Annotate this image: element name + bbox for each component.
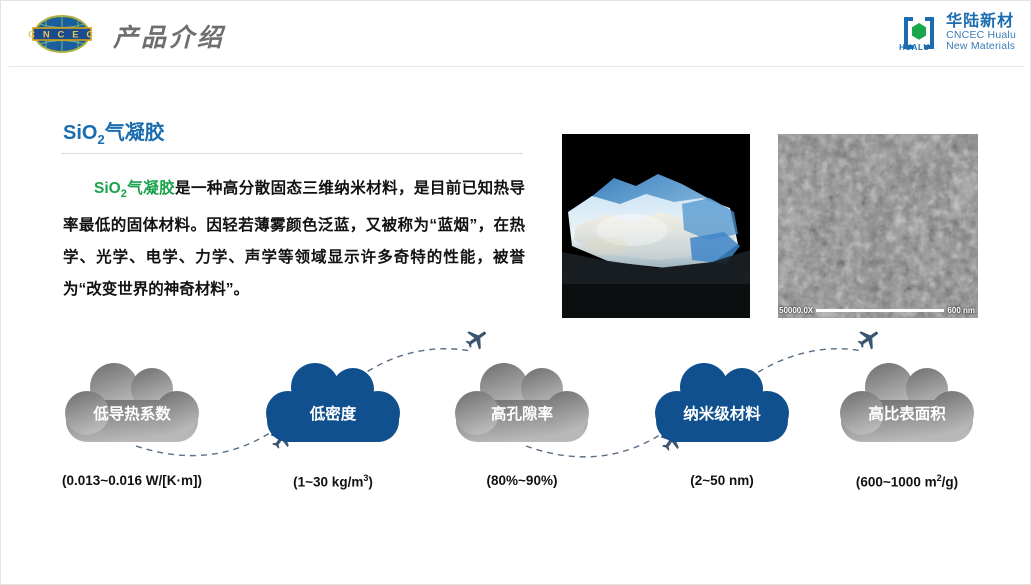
paragraph-highlight-rest: 气凝胶 <box>127 180 175 197</box>
cloud-label: 低导热系数 <box>58 402 206 424</box>
section-title: SiO2气凝胶 <box>63 116 165 147</box>
svg-text:C N C E C: C N C E C <box>28 30 96 41</box>
paragraph-highlight: SiO2气凝胶 <box>94 180 175 197</box>
cloud-item[interactable]: 高比表面积 <box>833 356 981 452</box>
cloud-label: 纳米级材料 <box>648 402 796 424</box>
hualu-mark-icon: HUALU <box>899 13 939 53</box>
cloud-caption-text: (80%~90%) <box>487 473 558 488</box>
paragraph-body: 是一种高分散固态三维纳米材料，是目前已知热导率最低的固体材料。因轻若薄雾颜色泛蓝… <box>63 180 525 298</box>
cloud-caption: (80%~90%) <box>407 473 637 488</box>
airplane-icon <box>856 326 882 352</box>
cloud-caption-text: (2~50 nm) <box>690 473 753 488</box>
cloud-item[interactable]: 低密度 <box>259 356 407 452</box>
cloud-caption-text: (0.013~0.016 W/[K·m]) <box>62 473 202 488</box>
page-title: 产品介绍 <box>113 18 225 54</box>
cloud-caption-text: (600~1000 m <box>856 475 937 490</box>
sem-photo: 50000.0X 600 nm <box>778 134 978 318</box>
paragraph-highlight-formula: SiO <box>94 180 121 197</box>
cloud-item[interactable]: 纳米级材料 <box>648 356 796 452</box>
hualu-name-cn: 华陆新材 <box>946 14 1016 31</box>
cloud-caption-tail: ) <box>368 475 373 490</box>
section-title-subscript: 2 <box>97 132 104 147</box>
hualu-tagline: HUALU <box>899 43 930 52</box>
section-title-divider <box>61 153 523 154</box>
header-divider <box>9 66 1024 67</box>
cloud-item[interactable]: 低导热系数 <box>58 356 206 452</box>
cloud-item[interactable]: 高孔隙率 <box>448 356 596 452</box>
cloud-caption: (0.013~0.016 W/[K·m]) <box>17 473 247 488</box>
hualu-wordmark: 华陆新材 CNCEC Hualu New Materials <box>946 14 1016 53</box>
hualu-name-en-line2: New Materials <box>946 41 1016 52</box>
slide-canvas: C N C E C 产品介绍 HUALU 华陆新材 CNCEC Hualu Ne… <box>0 0 1031 585</box>
cloud-label: 高孔隙率 <box>448 402 596 424</box>
slide-header: C N C E C 产品介绍 HUALU 华陆新材 CNCEC Hualu Ne… <box>1 1 1031 67</box>
description-paragraph: SiO2气凝胶是一种高分散固态三维纳米材料，是目前已知热导率最低的固体材料。因轻… <box>63 173 525 306</box>
sem-magnification-label: 50000.0X <box>778 306 813 315</box>
cloud-label: 低密度 <box>259 402 407 424</box>
sem-scale-line <box>816 309 944 312</box>
cncec-logo-icon: C N C E C <box>26 14 98 54</box>
hualu-logo: HUALU 华陆新材 CNCEC Hualu New Materials <box>899 11 1016 55</box>
sem-scale-length-label: 600 nm <box>947 306 978 315</box>
cloud-caption: (600~1000 m2/g) <box>792 473 1022 490</box>
section-title-formula: SiO <box>63 122 97 144</box>
airplane-icon <box>464 326 490 352</box>
aerogel-photo <box>562 134 750 318</box>
section-title-rest: 气凝胶 <box>105 122 165 144</box>
cloud-caption-tail: /g) <box>942 475 959 490</box>
sem-scale-bar: 50000.0X 600 nm <box>778 303 978 318</box>
cloud-label: 高比表面积 <box>833 402 981 424</box>
cloud-caption-text: (1~30 kg/m <box>293 475 363 490</box>
